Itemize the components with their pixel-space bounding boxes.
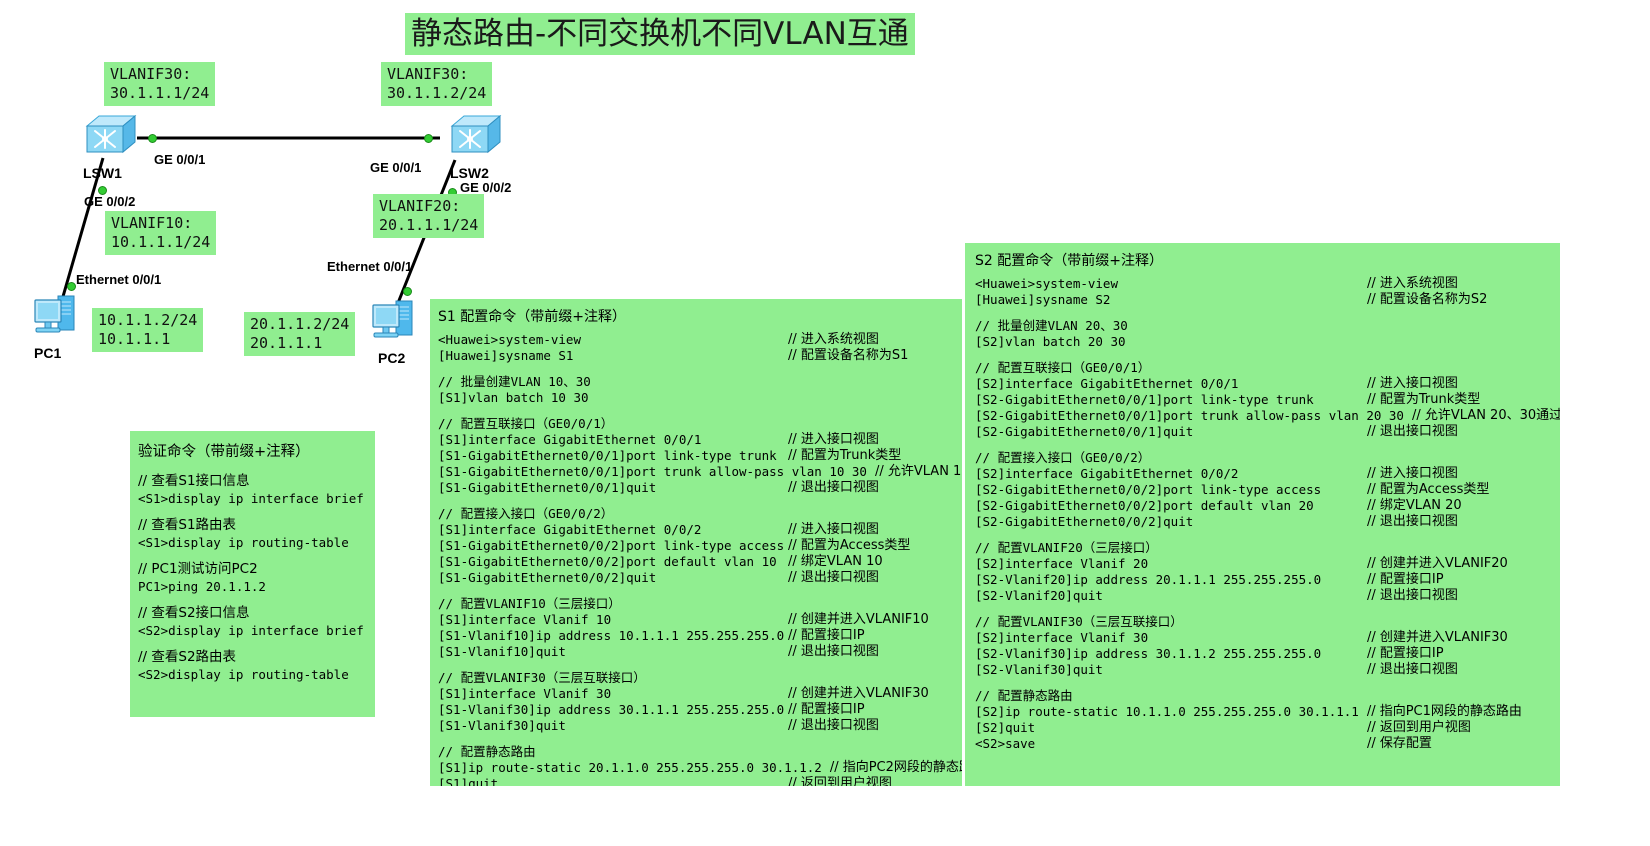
config-line: [S2-GigabitEthernet0/0/1]port trunk allo… xyxy=(975,408,1550,424)
config-command: [S1]quit xyxy=(438,776,498,786)
config-line: [Huawei]sysname S2// 配置设备名称为S2 xyxy=(975,292,1550,308)
config-command: // 批量创建VLAN 10、30 xyxy=(438,374,591,390)
device-lsw2[interactable] xyxy=(448,114,502,158)
config-command: [S1-GigabitEthernet0/0/2]port link-type … xyxy=(438,538,784,554)
spacer xyxy=(438,734,954,744)
config-command: [S1-GigabitEthernet0/0/2]port default vl… xyxy=(438,554,777,570)
config-comment: // 退出接口视图 xyxy=(788,644,879,660)
config-comment: // 允许VLAN 20、30通过 xyxy=(1404,408,1560,424)
device-pc2[interactable] xyxy=(370,295,420,353)
config-line: // 配置VLANIF20（三层接口） xyxy=(975,540,1550,556)
config-line: [S2-GigabitEthernet0/0/2]port link-type … xyxy=(975,482,1550,498)
config-line: <S2>save// 保存配置 xyxy=(975,736,1550,752)
config-comment: // 退出接口视图 xyxy=(1367,424,1458,440)
config-command: [S1-Vlanif30]quit xyxy=(438,718,566,734)
config-line: [S2]interface GigabitEthernet 0/0/2// 进入… xyxy=(975,466,1550,482)
config-comment: // 配置设备名称为S1 xyxy=(788,348,908,364)
config-comment: // 进入接口视图 xyxy=(788,432,879,448)
config-comment: // 保存配置 xyxy=(1367,736,1432,752)
config-comment: // 创建并进入VLANIF20 xyxy=(1367,556,1508,572)
verify-command-line: <S2>display ip routing-table xyxy=(138,666,367,683)
config-comment: // 进入系统视图 xyxy=(788,332,879,348)
spacer xyxy=(975,440,1550,450)
config-comment: // 进入接口视图 xyxy=(1367,376,1458,392)
config-line: // 配置接入接口（GE0/0/2） xyxy=(438,506,954,522)
config-command: [S2-GigabitEthernet0/0/1]port trunk allo… xyxy=(975,408,1404,424)
config-comment: // 配置接口IP xyxy=(1367,572,1444,588)
spacer xyxy=(438,496,954,506)
config-line: [S2-GigabitEthernet0/0/1]quit// 退出接口视图 xyxy=(975,424,1550,440)
config-comment: // 创建并进入VLANIF10 xyxy=(788,612,929,628)
config-command: // 配置VLANIF10（三层接口） xyxy=(438,596,621,612)
config-comment: // 配置为Access类型 xyxy=(1367,482,1489,498)
config-line: [S1]quit// 返回到用户视图 xyxy=(438,776,954,786)
config-command: [S1]interface GigabitEthernet 0/0/1 xyxy=(438,432,701,448)
spacer xyxy=(438,586,954,596)
config-command: [S2-GigabitEthernet0/0/2]port link-type … xyxy=(975,482,1321,498)
config-line: [S2-GigabitEthernet0/0/2]port default vl… xyxy=(975,498,1550,514)
config-command: [S2]interface Vlanif 20 xyxy=(975,556,1148,572)
page-title: 静态路由-不同交换机不同VLAN互通 xyxy=(405,13,915,55)
spacer xyxy=(975,530,1550,540)
config-line: [S1-GigabitEthernet0/0/2]port link-type … xyxy=(438,538,954,554)
config-command: [S2]interface GigabitEthernet 0/0/1 xyxy=(975,376,1238,392)
verify-comment-line: // 查看S2接口信息 xyxy=(138,604,367,622)
config-line: // 配置静态路由 xyxy=(438,744,954,760)
config-line: [S2-Vlanif30]quit// 退出接口视图 xyxy=(975,662,1550,678)
config-line: // 配置静态路由 xyxy=(975,688,1550,704)
chip-lsw2-vlanif30: VLANIF30: 30.1.1.2/24 xyxy=(381,62,492,106)
verify-comment-line: // PC1测试访问PC2 xyxy=(138,560,367,578)
config-line: [S1-GigabitEthernet0/0/2]port default vl… xyxy=(438,554,954,570)
config-comment: // 退出接口视图 xyxy=(1367,662,1458,678)
config-comment: // 指向PC2网段的静态路由 xyxy=(822,760,962,776)
config-command: [S2-GigabitEthernet0/0/1]port link-type … xyxy=(975,392,1314,408)
config-command: [S2]ip route-static 10.1.1.0 255.255.255… xyxy=(975,704,1359,720)
config-line: // 配置VLANIF30（三层互联接口） xyxy=(438,670,954,686)
config-comment: // 配置为Access类型 xyxy=(788,538,910,554)
pc-icon xyxy=(32,290,82,344)
chip-pc1-ip: 10.1.1.2/24 10.1.1.1 xyxy=(92,308,203,352)
verify-comment-line: // 查看S1路由表 xyxy=(138,516,367,534)
spacer xyxy=(438,364,954,374)
device-label-pc2: PC2 xyxy=(378,350,405,366)
config-comment: // 创建并进入VLANIF30 xyxy=(788,686,929,702)
config-line: [S2-Vlanif30]ip address 30.1.1.2 255.255… xyxy=(975,646,1550,662)
device-label-lsw2: LSW2 xyxy=(450,165,489,181)
config-command: [S1-Vlanif10]quit xyxy=(438,644,566,660)
config-line: [S1-GigabitEthernet0/0/2]quit// 退出接口视图 xyxy=(438,570,954,586)
config-command: [Huawei]sysname S1 xyxy=(438,348,573,364)
config-command: <Huawei>system-view xyxy=(438,332,581,348)
config-command: [S2-GigabitEthernet0/0/2]quit xyxy=(975,514,1193,530)
config-command: [S1-GigabitEthernet0/0/2]quit xyxy=(438,570,656,586)
spacer xyxy=(975,678,1550,688)
config-line: [S1-Vlanif10]quit// 退出接口视图 xyxy=(438,644,954,660)
config-command: [S2]quit xyxy=(975,720,1035,736)
config-line: [S2]interface Vlanif 30// 创建并进入VLANIF30 xyxy=(975,630,1550,646)
config-line: [S1]vlan batch 10 30 xyxy=(438,390,954,406)
device-pc1[interactable] xyxy=(32,290,82,348)
link-endpoint-lsw2-ge1 xyxy=(424,134,433,143)
config-comment: // 绑定VLAN 20 xyxy=(1367,498,1462,514)
port-label-pc2-eth: Ethernet 0/0/1 xyxy=(327,259,412,274)
spacer xyxy=(138,507,367,516)
config-line: <Huawei>system-view// 进入系统视图 xyxy=(975,276,1550,292)
verify-lines-container: // 查看S1接口信息<S1>display ip interface brie… xyxy=(138,472,367,683)
port-label-lsw2-ge1: GE 0/0/1 xyxy=(370,160,421,175)
spacer xyxy=(438,406,954,416)
s1-panel-title: S1 配置命令（带前缀+注释） xyxy=(438,309,954,332)
s2-config-panel: S2 配置命令（带前缀+注释） <Huawei>system-view// 进入… xyxy=(965,243,1560,786)
config-line: // 批量创建VLAN 20、30 xyxy=(975,318,1550,334)
device-lsw1[interactable] xyxy=(83,114,137,158)
config-line: // 批量创建VLAN 10、30 xyxy=(438,374,954,390)
config-line: [S2]vlan batch 20 30 xyxy=(975,334,1550,350)
config-comment: // 配置接口IP xyxy=(788,702,865,718)
device-label-lsw1: LSW1 xyxy=(83,165,122,181)
config-command: [S2-GigabitEthernet0/0/1]quit xyxy=(975,424,1193,440)
spacer xyxy=(975,604,1550,614)
config-line: [S1]interface GigabitEthernet 0/0/1// 进入… xyxy=(438,432,954,448)
spacer xyxy=(438,660,954,670)
spacer xyxy=(138,551,367,560)
chip-lsw2-vlanif20: VLANIF20: 20.1.1.1/24 xyxy=(373,194,484,238)
config-line: [S1-Vlanif10]ip address 10.1.1.1 255.255… xyxy=(438,628,954,644)
config-comment: // 退出接口视图 xyxy=(788,718,879,734)
config-line: [S1-GigabitEthernet0/0/1]port trunk allo… xyxy=(438,464,954,480)
config-comment: // 配置接口IP xyxy=(1367,646,1444,662)
config-command: [S2]interface Vlanif 30 xyxy=(975,630,1148,646)
spacer xyxy=(975,308,1550,318)
s2-lines-container: <Huawei>system-view// 进入系统视图[Huawei]sysn… xyxy=(975,276,1550,752)
s1-lines-container: <Huawei>system-view// 进入系统视图[Huawei]sysn… xyxy=(438,332,954,786)
config-command: // 配置VLANIF30（三层互联接口） xyxy=(438,670,646,686)
config-command: // 配置VLANIF20（三层接口） xyxy=(975,540,1158,556)
verify-command-line: PC1>ping 20.1.1.2 xyxy=(138,578,367,595)
config-comment: // 返回到用户视图 xyxy=(1367,720,1471,736)
config-line: [S2-Vlanif20]quit// 退出接口视图 xyxy=(975,588,1550,604)
config-command: // 配置接入接口（GE0/0/2） xyxy=(438,506,613,522)
chip-lsw1-vlanif10: VLANIF10: 10.1.1.1/24 xyxy=(105,211,216,255)
pc-icon xyxy=(370,295,420,349)
config-line: [S1-GigabitEthernet0/0/1]port link-type … xyxy=(438,448,954,464)
config-comment: // 退出接口视图 xyxy=(788,570,879,586)
config-command: // 配置互联接口（GE0/0/1） xyxy=(975,360,1150,376)
switch-icon xyxy=(83,114,137,154)
verify-commands-panel: 验证命令（带前缀+注释） // 查看S1接口信息<S1>display ip i… xyxy=(130,431,375,717)
config-command: // 配置互联接口（GE0/0/1） xyxy=(438,416,613,432)
link-endpoint-lsw1-ge1 xyxy=(148,134,157,143)
config-comment: // 退出接口视图 xyxy=(1367,588,1458,604)
config-line: <Huawei>system-view// 进入系统视图 xyxy=(438,332,954,348)
config-comment: // 配置设备名称为S2 xyxy=(1367,292,1487,308)
switch-icon xyxy=(448,114,502,154)
config-command: // 配置静态路由 xyxy=(438,744,536,760)
chip-lsw1-vlanif30: VLANIF30: 30.1.1.1/24 xyxy=(104,62,215,106)
chip-pc2-ip: 20.1.1.2/24 20.1.1.1 xyxy=(244,312,355,356)
config-line: // 配置VLANIF30（三层互联接口） xyxy=(975,614,1550,630)
s1-config-panel: S1 配置命令（带前缀+注释） <Huawei>system-view// 进入… xyxy=(430,299,962,786)
config-command: [Huawei]sysname S2 xyxy=(975,292,1110,308)
config-comment: // 进入接口视图 xyxy=(788,522,879,538)
config-command: [S1-GigabitEthernet0/0/1]port link-type … xyxy=(438,448,777,464)
config-comment: // 配置为Trunk类型 xyxy=(788,448,901,464)
config-command: <Huawei>system-view xyxy=(975,276,1118,292)
config-line: [Huawei]sysname S1// 配置设备名称为S1 xyxy=(438,348,954,364)
config-comment: // 绑定VLAN 10 xyxy=(788,554,883,570)
spacer xyxy=(138,595,367,604)
config-command: // 配置接入接口（GE0/0/2） xyxy=(975,450,1150,466)
config-line: [S2-GigabitEthernet0/0/2]quit// 退出接口视图 xyxy=(975,514,1550,530)
config-comment: // 退出接口视图 xyxy=(1367,514,1458,530)
config-command: // 配置VLANIF30（三层互联接口） xyxy=(975,614,1183,630)
config-command: [S1-Vlanif30]ip address 30.1.1.1 255.255… xyxy=(438,702,784,718)
config-line: [S1]ip route-static 20.1.1.0 255.255.255… xyxy=(438,760,954,776)
config-line: [S2-Vlanif20]ip address 20.1.1.1 255.255… xyxy=(975,572,1550,588)
config-command: [S2]vlan batch 20 30 xyxy=(975,334,1126,350)
port-label-lsw1-ge1: GE 0/0/1 xyxy=(154,152,205,167)
config-line: // 配置VLANIF10（三层接口） xyxy=(438,596,954,612)
config-comment: // 进入接口视图 xyxy=(1367,466,1458,482)
config-command: [S1]vlan batch 10 30 xyxy=(438,390,589,406)
spacer xyxy=(138,639,367,648)
config-line: [S1-GigabitEthernet0/0/1]quit// 退出接口视图 xyxy=(438,480,954,496)
verify-command-line: <S1>display ip routing-table xyxy=(138,534,367,551)
s2-panel-title: S2 配置命令（带前缀+注释） xyxy=(975,253,1550,276)
config-command: [S2-GigabitEthernet0/0/2]port default vl… xyxy=(975,498,1314,514)
config-command: [S1]interface GigabitEthernet 0/0/2 xyxy=(438,522,701,538)
config-command: [S1-Vlanif10]ip address 10.1.1.1 255.255… xyxy=(438,628,784,644)
config-command: [S2-Vlanif20]ip address 20.1.1.1 255.255… xyxy=(975,572,1321,588)
config-comment: // 允许VLAN 10、30通过 xyxy=(867,464,962,480)
config-line: [S1-Vlanif30]ip address 30.1.1.1 255.255… xyxy=(438,702,954,718)
config-command: [S2-Vlanif20]quit xyxy=(975,588,1103,604)
config-command: [S1]ip route-static 20.1.1.0 255.255.255… xyxy=(438,760,822,776)
config-line: [S2]interface GigabitEthernet 0/0/1// 进入… xyxy=(975,376,1550,392)
config-comment: // 配置为Trunk类型 xyxy=(1367,392,1480,408)
config-line: [S1]interface Vlanif 10// 创建并进入VLANIF10 xyxy=(438,612,954,628)
config-line: [S2]interface Vlanif 20// 创建并进入VLANIF20 xyxy=(975,556,1550,572)
config-command: [S1-GigabitEthernet0/0/1]quit xyxy=(438,480,656,496)
spacer xyxy=(975,350,1550,360)
config-command: // 批量创建VLAN 20、30 xyxy=(975,318,1128,334)
config-comment: // 指向PC1网段的静态路由 xyxy=(1359,704,1522,720)
port-label-lsw2-ge2: GE 0/0/2 xyxy=(460,180,511,195)
config-command: [S2]interface GigabitEthernet 0/0/2 xyxy=(975,466,1238,482)
config-comment: // 创建并进入VLANIF30 xyxy=(1367,630,1508,646)
verify-comment-line: // 查看S1接口信息 xyxy=(138,472,367,490)
device-label-pc1: PC1 xyxy=(34,345,61,361)
config-line: [S2]ip route-static 10.1.1.0 255.255.255… xyxy=(975,704,1550,720)
config-command: [S1]interface Vlanif 30 xyxy=(438,686,611,702)
config-command: [S2-Vlanif30]quit xyxy=(975,662,1103,678)
config-line: [S2-GigabitEthernet0/0/1]port link-type … xyxy=(975,392,1550,408)
config-command: [S2-Vlanif30]ip address 30.1.1.2 255.255… xyxy=(975,646,1321,662)
config-line: [S1]interface GigabitEthernet 0/0/2// 进入… xyxy=(438,522,954,538)
config-command: [S1]interface Vlanif 10 xyxy=(438,612,611,628)
config-command: [S1-GigabitEthernet0/0/1]port trunk allo… xyxy=(438,464,867,480)
config-comment: // 退出接口视图 xyxy=(788,480,879,496)
port-label-pc1-eth: Ethernet 0/0/1 xyxy=(76,272,161,287)
config-line: // 配置互联接口（GE0/0/1） xyxy=(975,360,1550,376)
config-line: // 配置互联接口（GE0/0/1） xyxy=(438,416,954,432)
config-line: [S1-Vlanif30]quit// 退出接口视图 xyxy=(438,718,954,734)
verify-panel-title: 验证命令（带前缀+注释） xyxy=(138,443,367,472)
verify-command-line: <S2>display ip interface brief xyxy=(138,622,367,639)
config-comment: // 配置接口IP xyxy=(788,628,865,644)
config-command: <S2>save xyxy=(975,736,1035,752)
verify-command-line: <S1>display ip interface brief xyxy=(138,490,367,507)
config-comment: // 进入系统视图 xyxy=(1367,276,1458,292)
config-line: // 配置接入接口（GE0/0/2） xyxy=(975,450,1550,466)
config-line: [S1]interface Vlanif 30// 创建并进入VLANIF30 xyxy=(438,686,954,702)
port-label-lsw1-ge2: GE 0/0/2 xyxy=(84,194,135,209)
config-line: [S2]quit// 返回到用户视图 xyxy=(975,720,1550,736)
config-command: // 配置静态路由 xyxy=(975,688,1073,704)
verify-comment-line: // 查看S2路由表 xyxy=(138,648,367,666)
config-comment: // 返回到用户视图 xyxy=(788,776,892,786)
